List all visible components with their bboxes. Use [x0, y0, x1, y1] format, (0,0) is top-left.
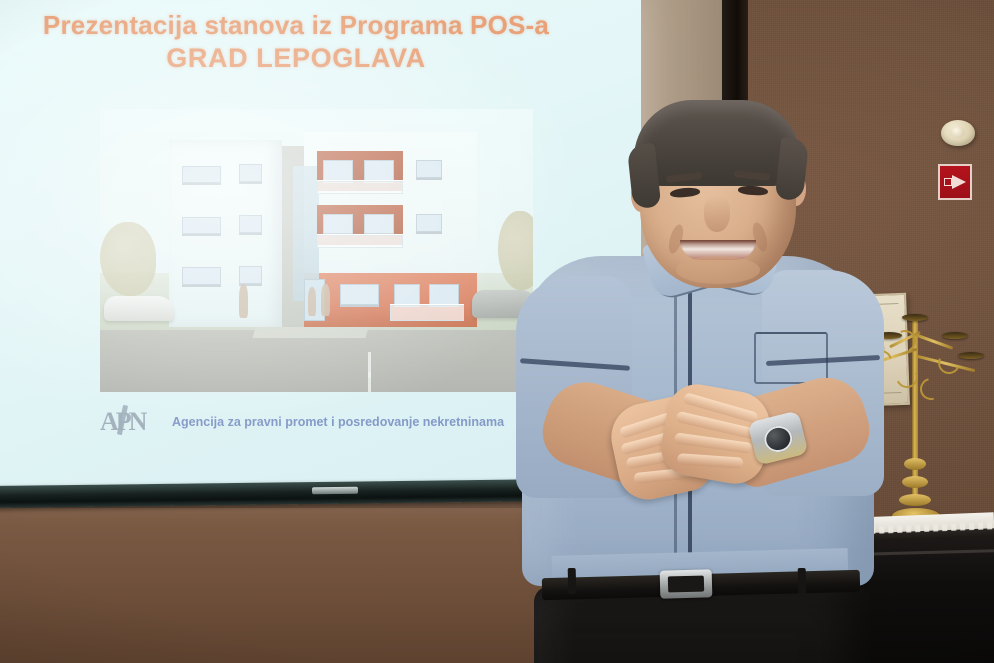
render-tree: [100, 222, 156, 296]
wall-sounder-icon: [941, 120, 975, 146]
building-balcony-railing: [317, 234, 404, 248]
candelabra-scroll: [916, 374, 946, 404]
building-window: [239, 215, 263, 235]
apn-logo: APN: [100, 406, 156, 438]
siren-cone: [952, 175, 966, 189]
presenter-nose: [704, 196, 730, 232]
slide-footer: APN Agencija za pravni promet i posredov…: [100, 404, 520, 440]
building-window: [340, 284, 379, 307]
screen-pull-handle[interactable]: [312, 487, 358, 495]
render-person: [308, 287, 317, 315]
render-road: [100, 330, 533, 392]
finger: [677, 453, 744, 469]
render-road-marking: [368, 372, 371, 392]
candelabra-knop: [904, 458, 926, 470]
building-window: [182, 267, 221, 287]
presenter-hair: [634, 100, 800, 186]
siren-horn-icon: [944, 175, 966, 189]
presenter: [498, 100, 898, 663]
siren-body: [944, 178, 952, 186]
candelabra-knop: [899, 494, 931, 506]
building-window: [416, 160, 442, 180]
render-person: [239, 284, 249, 318]
render-person: [321, 284, 331, 315]
building-terrace-railing: [390, 304, 464, 321]
candelabra-candle-cup: [902, 314, 928, 321]
slide-title-line1: Prezentacija stanova iz Programa POS-a: [43, 10, 549, 40]
render-car: [104, 296, 173, 321]
building-window: [182, 217, 221, 237]
slide-render-image: [100, 109, 533, 392]
candelabra-knop: [902, 476, 928, 488]
building-balcony-railing: [317, 180, 404, 194]
slide-title-line2: GRAD LEPOGLAVA: [0, 42, 596, 75]
presenter-shirt-pocket: [754, 332, 828, 384]
photo-scene: Prezentacija stanova iz Programa POS-a G…: [0, 0, 994, 663]
slide-title: Prezentacija stanova iz Programa POS-a G…: [0, 10, 596, 75]
building-window: [416, 214, 442, 234]
building-window: [182, 166, 221, 186]
belt-loop: [798, 568, 807, 594]
presenter-chin: [676, 256, 760, 284]
candelabra-candle-cup: [958, 352, 984, 359]
building-window: [239, 164, 263, 184]
fire-alarm-sign: [938, 164, 972, 200]
belt-loop: [568, 568, 577, 594]
slide-footer-text: Agencija za pravni promet i posredovanje…: [172, 415, 504, 429]
candelabra-candle-cup: [942, 332, 968, 339]
presenter-belt-buckle: [660, 569, 713, 598]
building-window: [239, 266, 263, 286]
